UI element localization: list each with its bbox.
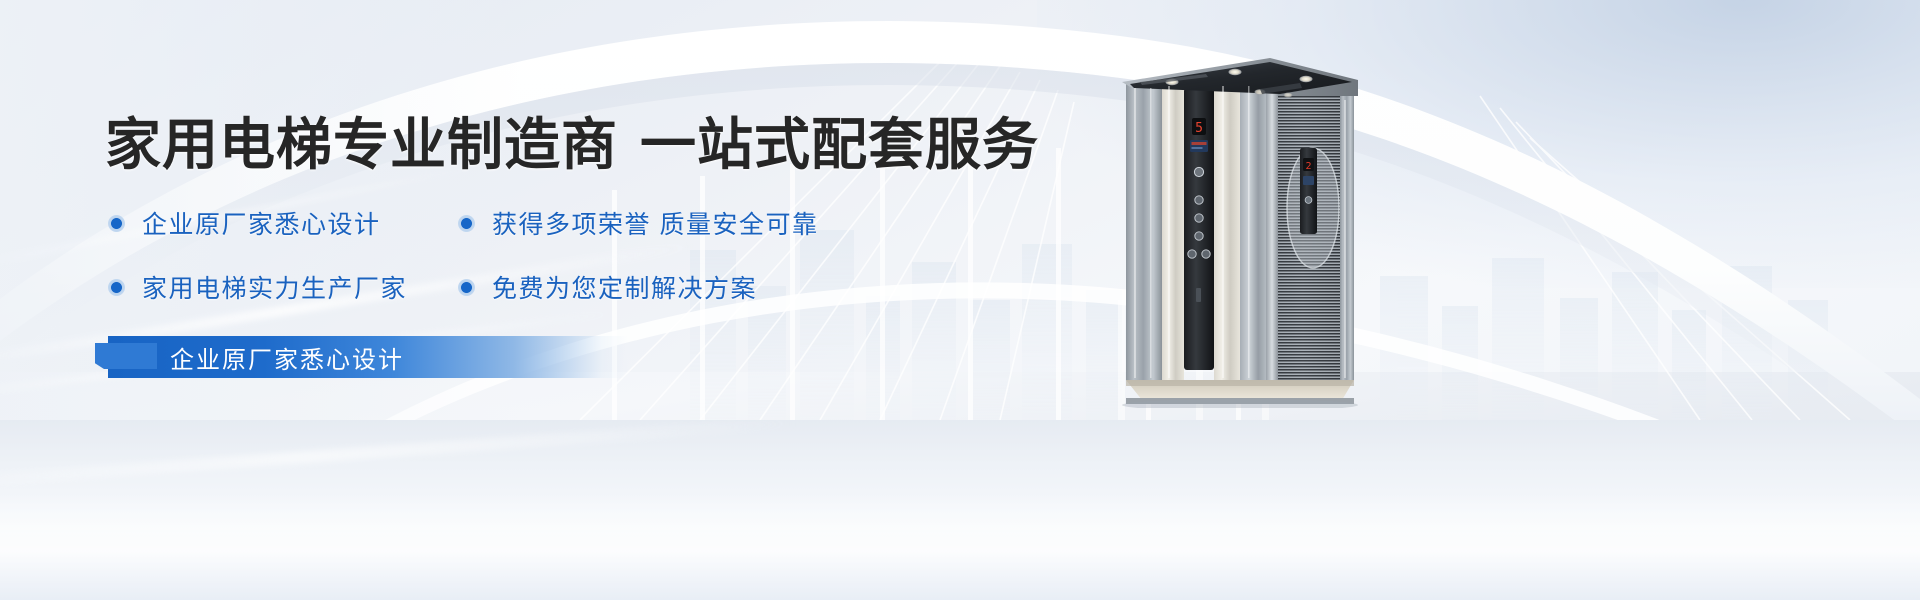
ceiling-light [1229, 69, 1242, 75]
cop-screen [1190, 140, 1208, 152]
cabin-panel-cream [1162, 82, 1184, 380]
cop-button [1195, 196, 1203, 204]
ceiling-light [1300, 76, 1313, 82]
bullet-dot-icon [458, 215, 475, 232]
cabin-panel-mid [1240, 82, 1266, 380]
page-title: 家用电梯专业制造商一站式配套服务 [105, 112, 1039, 178]
cop-button [1195, 232, 1203, 240]
bullet-dot-icon [108, 215, 125, 232]
ceiling-light [1284, 93, 1293, 98]
elevator-cabin: 2 5 [1120, 48, 1362, 408]
feature-row: 企业原厂家悉心设计 获得多项荣誉 质量安全可靠 [108, 205, 988, 241]
banner-content: 家用电梯专业制造商一站式配套服务 企业原厂家悉心设计 获得多项荣誉 质量安全可靠… [100, 0, 1120, 600]
cabin-panel-bright [1214, 82, 1240, 380]
list-item: 企业原厂家悉心设计 [108, 205, 458, 241]
promo-banner: 2 5 [0, 0, 1920, 600]
cabin-right-edge [1340, 96, 1354, 380]
cop-button [1188, 250, 1196, 258]
home-elevator-image: 2 5 [1120, 48, 1362, 408]
feature-label: 免费为您定制解决方案 [492, 269, 757, 305]
feature-row: 家用电梯实力生产厂家 免费为您定制解决方案 [108, 269, 988, 305]
cop-button [1195, 214, 1203, 222]
list-item: 获得多项荣誉 质量安全可靠 [458, 205, 888, 241]
feature-label: 企业原厂家悉心设计 [142, 205, 381, 241]
door-jamb [1266, 88, 1278, 380]
feature-list: 企业原厂家悉心设计 获得多项荣誉 质量安全可靠 家用电梯实力生产厂家 免费为您定… [108, 205, 988, 333]
feature-label: 获得多项荣誉 质量安全可靠 [492, 205, 818, 241]
floor-indicator-right: 2 [1305, 161, 1311, 172]
headline-part-2: 一站式配套服务 [640, 113, 1039, 176]
bullet-dot-icon [458, 279, 475, 296]
headline-part-1: 家用电梯专业制造商 [105, 113, 618, 176]
highlight-ribbon: 企业原厂家悉心设计 [108, 336, 628, 378]
cop-button [1202, 250, 1210, 258]
list-item: 家用电梯实力生产厂家 [108, 269, 458, 305]
list-item: 免费为您定制解决方案 [458, 269, 888, 305]
feature-label: 家用电梯实力生产厂家 [142, 269, 407, 305]
bullet-dot-icon [108, 279, 125, 296]
floor-indicator-left: 5 [1195, 121, 1203, 136]
cop-button [1194, 167, 1203, 176]
cabin-left-wall [1126, 82, 1162, 380]
ribbon-fold-tab [95, 343, 157, 369]
ribbon-label: 企业原厂家悉心设计 [170, 340, 404, 375]
cop-key-slot [1196, 288, 1201, 302]
